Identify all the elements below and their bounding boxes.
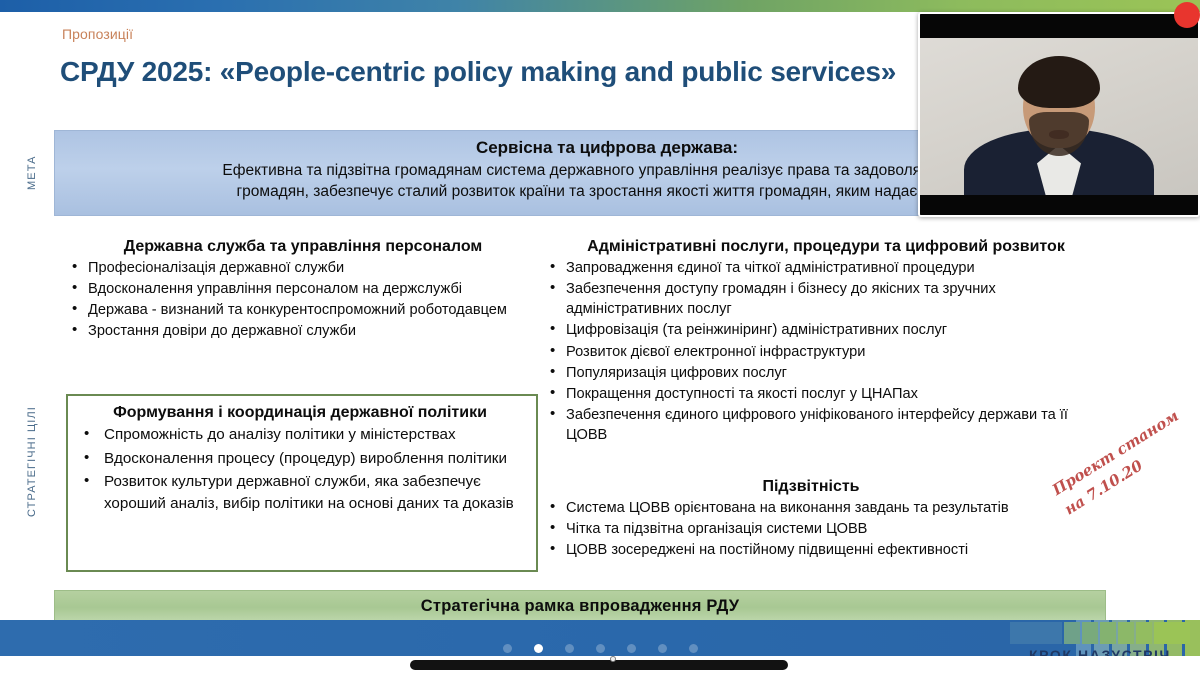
column-policy-making-list: Спроможність до аналізу політики у мініс…: [74, 424, 526, 514]
person-eye-right: [1072, 94, 1081, 99]
list-item: Забезпечення єдиного цифрового уніфікова…: [546, 405, 1106, 445]
list-item: Вдосконалення управління персоналом на д…: [68, 279, 538, 299]
column-policy-making-heading: Формування і координація державної політ…: [74, 404, 526, 422]
list-item: Розвиток культури державної служби, яка …: [74, 471, 526, 514]
list-item: Чітка та підзвітна організація системи Ц…: [546, 519, 1076, 539]
slide-dot[interactable]: [689, 644, 698, 653]
column-admin-services: Адміністративні послуги, процедури та ци…: [546, 238, 1106, 446]
person-eye-left: [1037, 94, 1046, 99]
column-policy-making: Формування і координація державної політ…: [66, 394, 538, 572]
presentation-viewer: Пропозиції СРДУ 2025: «People-centric po…: [0, 0, 1200, 683]
webcam-video-overlay[interactable]: [918, 12, 1200, 217]
list-item: Вдосконалення процесу (процедур) виробле…: [74, 448, 526, 470]
column-admin-services-list: Запровадження єдиної та чіткої адміністр…: [546, 258, 1106, 445]
list-item: Держава - визнаний та конкурентоспроможн…: [68, 300, 538, 320]
list-item: ЦОВВ зосереджені на постійному підвищенн…: [546, 540, 1076, 560]
column-admin-services-heading: Адміністративні послуги, процедури та ци…: [546, 238, 1106, 256]
column-civil-service-heading: Державна служба та управління персоналом: [68, 238, 538, 256]
letterbox-bottom: [920, 195, 1198, 215]
letterbox-top: [920, 14, 1198, 38]
strategic-framework-label: Стратегічна рамка впровадження РДУ: [421, 597, 739, 616]
column-accountability: Підзвітність Система ЦОВВ орієнтована на…: [546, 478, 1076, 561]
slide-dot[interactable]: [503, 644, 512, 653]
recording-indicator-icon[interactable]: [1174, 2, 1200, 28]
side-label-meta: МЕТА: [26, 130, 38, 216]
list-item: Популяризація цифрових послуг: [546, 363, 1106, 383]
scrubber-handle[interactable]: [610, 656, 616, 662]
strategic-framework-bar: Стратегічна рамка впровадження РДУ: [54, 590, 1106, 622]
list-item: Професіоналізація державної служби: [68, 258, 538, 278]
breadcrumb: Пропозиції: [62, 26, 133, 42]
list-item: Спроможність до аналізу політики у мініс…: [74, 424, 526, 446]
list-item: Запровадження єдиної та чіткої адміністр…: [546, 258, 1106, 278]
person-hair: [1018, 56, 1100, 108]
slide-dot[interactable]: [596, 644, 605, 653]
top-gradient-band: [0, 0, 1200, 12]
scrubber-track[interactable]: [410, 660, 788, 670]
column-accountability-list: Система ЦОВВ орієнтована на виконання за…: [546, 498, 1076, 560]
column-civil-service-list: Професіоналізація державної служби Вдоск…: [68, 258, 538, 342]
column-accountability-heading: Підзвітність: [546, 478, 1076, 496]
list-item: Зростання довіри до державної служби: [68, 321, 538, 341]
slide-dot[interactable]: [658, 644, 667, 653]
webcam-background: [920, 38, 1198, 199]
list-item: Покращення доступності та якості послуг …: [546, 384, 1106, 404]
side-label-strategic-goals: СТРАТЕГІЧНІ ЦІЛІ: [26, 372, 38, 552]
slide-dot[interactable]: [627, 644, 636, 653]
column-civil-service: Державна служба та управління персоналом…: [68, 238, 538, 343]
slide-progress-dots[interactable]: [0, 640, 1200, 656]
list-item: Розвиток дієвої електронної інфраструкту…: [546, 342, 1106, 362]
slide-dot-active[interactable]: [534, 644, 543, 653]
list-item: Система ЦОВВ орієнтована на виконання за…: [546, 498, 1076, 518]
list-item: Забезпечення доступу громадян і бізнесу …: [546, 279, 1106, 319]
list-item: Цифровізація (та реінжиніринг) адміністр…: [546, 320, 1106, 340]
slide-dot[interactable]: [565, 644, 574, 653]
page-title: СРДУ 2025: «People-centric policy making…: [60, 56, 896, 88]
